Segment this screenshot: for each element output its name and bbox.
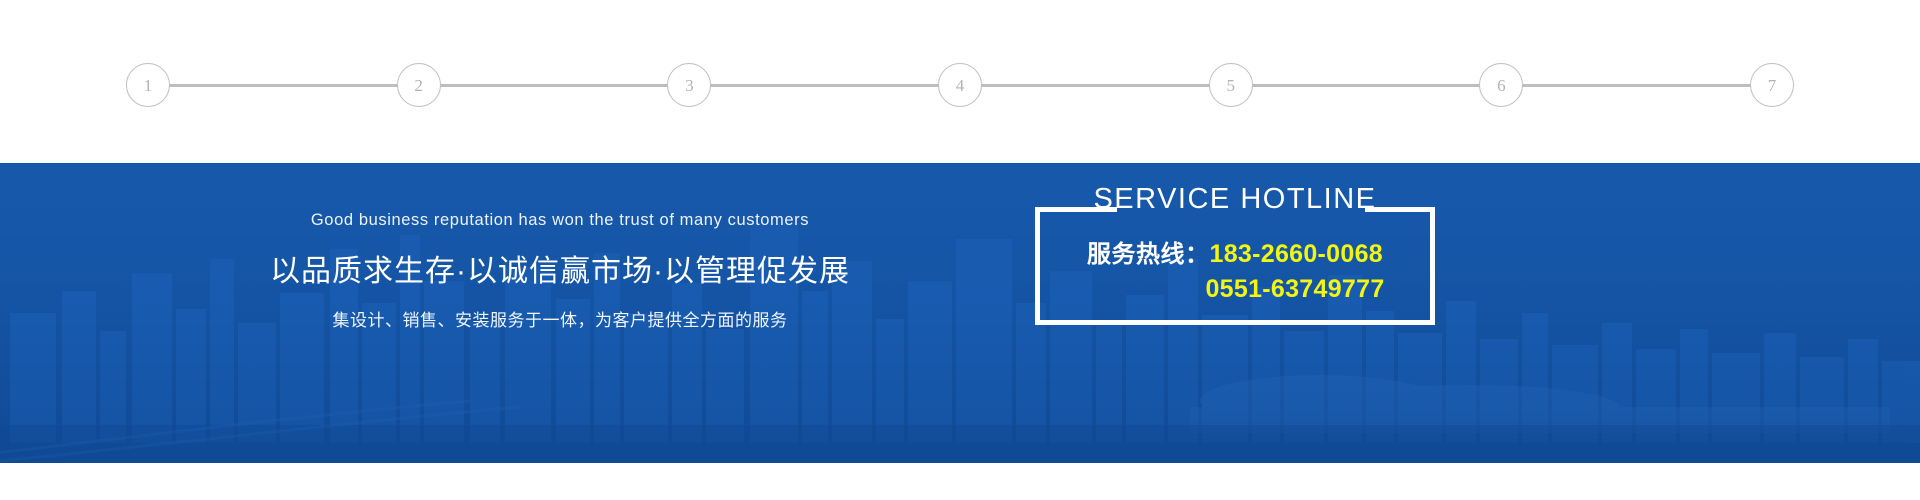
slogan-chinese-headline: 以品质求生存·以诚信赢市场·以管理促发展 xyxy=(240,253,880,291)
step-node-label: 7 xyxy=(1768,77,1777,94)
step-node-2[interactable]: 2 xyxy=(397,63,441,107)
step-connector-4-5 xyxy=(981,84,1210,87)
service-hotline-box: SERVICE HOTLINE 服务热线： 183-2660-0068 0551… xyxy=(1035,207,1435,325)
hotline-number-secondary[interactable]: 0551-63749777 xyxy=(1205,272,1384,307)
hotline-row-secondary: 0551-63749777 xyxy=(1035,272,1435,307)
step-node-label: 3 xyxy=(685,77,694,94)
step-connector-3-4 xyxy=(710,84,939,87)
hotline-number-primary[interactable]: 183-2660-0068 xyxy=(1210,237,1384,272)
step-node-label: 5 xyxy=(1226,77,1235,94)
hotline-label: 服务热线： xyxy=(1087,238,1210,271)
promo-banner-page: 1 2 3 4 5 6 7 xyxy=(0,0,1920,500)
hotline-row-primary: 服务热线： 183-2660-0068 xyxy=(1035,237,1435,272)
step-node-3[interactable]: 3 xyxy=(667,63,711,107)
step-connector-2-3 xyxy=(440,84,669,87)
step-node-6[interactable]: 6 xyxy=(1479,63,1523,107)
step-node-4[interactable]: 4 xyxy=(938,63,982,107)
step-indicator-strip: 1 2 3 4 5 6 7 xyxy=(0,0,1920,163)
step-connector-1-2 xyxy=(169,84,398,87)
hotline-title: SERVICE HOTLINE xyxy=(1035,185,1435,214)
step-node-5[interactable]: 5 xyxy=(1209,63,1253,107)
step-node-7[interactable]: 7 xyxy=(1750,63,1794,107)
slogan-block: Good business reputation has won the tru… xyxy=(240,211,880,332)
step-indicator-rail: 1 2 3 4 5 6 7 xyxy=(126,62,1794,108)
step-node-label: 4 xyxy=(956,77,965,94)
hotline-numbers-list: 服务热线： 183-2660-0068 0551-63749777 xyxy=(1035,237,1435,306)
step-node-1[interactable]: 1 xyxy=(126,63,170,107)
step-node-label: 1 xyxy=(144,77,153,94)
slogan-english: Good business reputation has won the tru… xyxy=(240,211,880,231)
promo-band: Good business reputation has won the tru… xyxy=(0,163,1920,463)
step-connector-5-6 xyxy=(1252,84,1481,87)
step-node-label: 6 xyxy=(1497,77,1506,94)
slogan-chinese-subline: 集设计、销售、安装服务于一体，为客户提供全方面的服务 xyxy=(240,310,880,332)
step-connector-6-7 xyxy=(1522,84,1751,87)
step-node-label: 2 xyxy=(414,77,423,94)
